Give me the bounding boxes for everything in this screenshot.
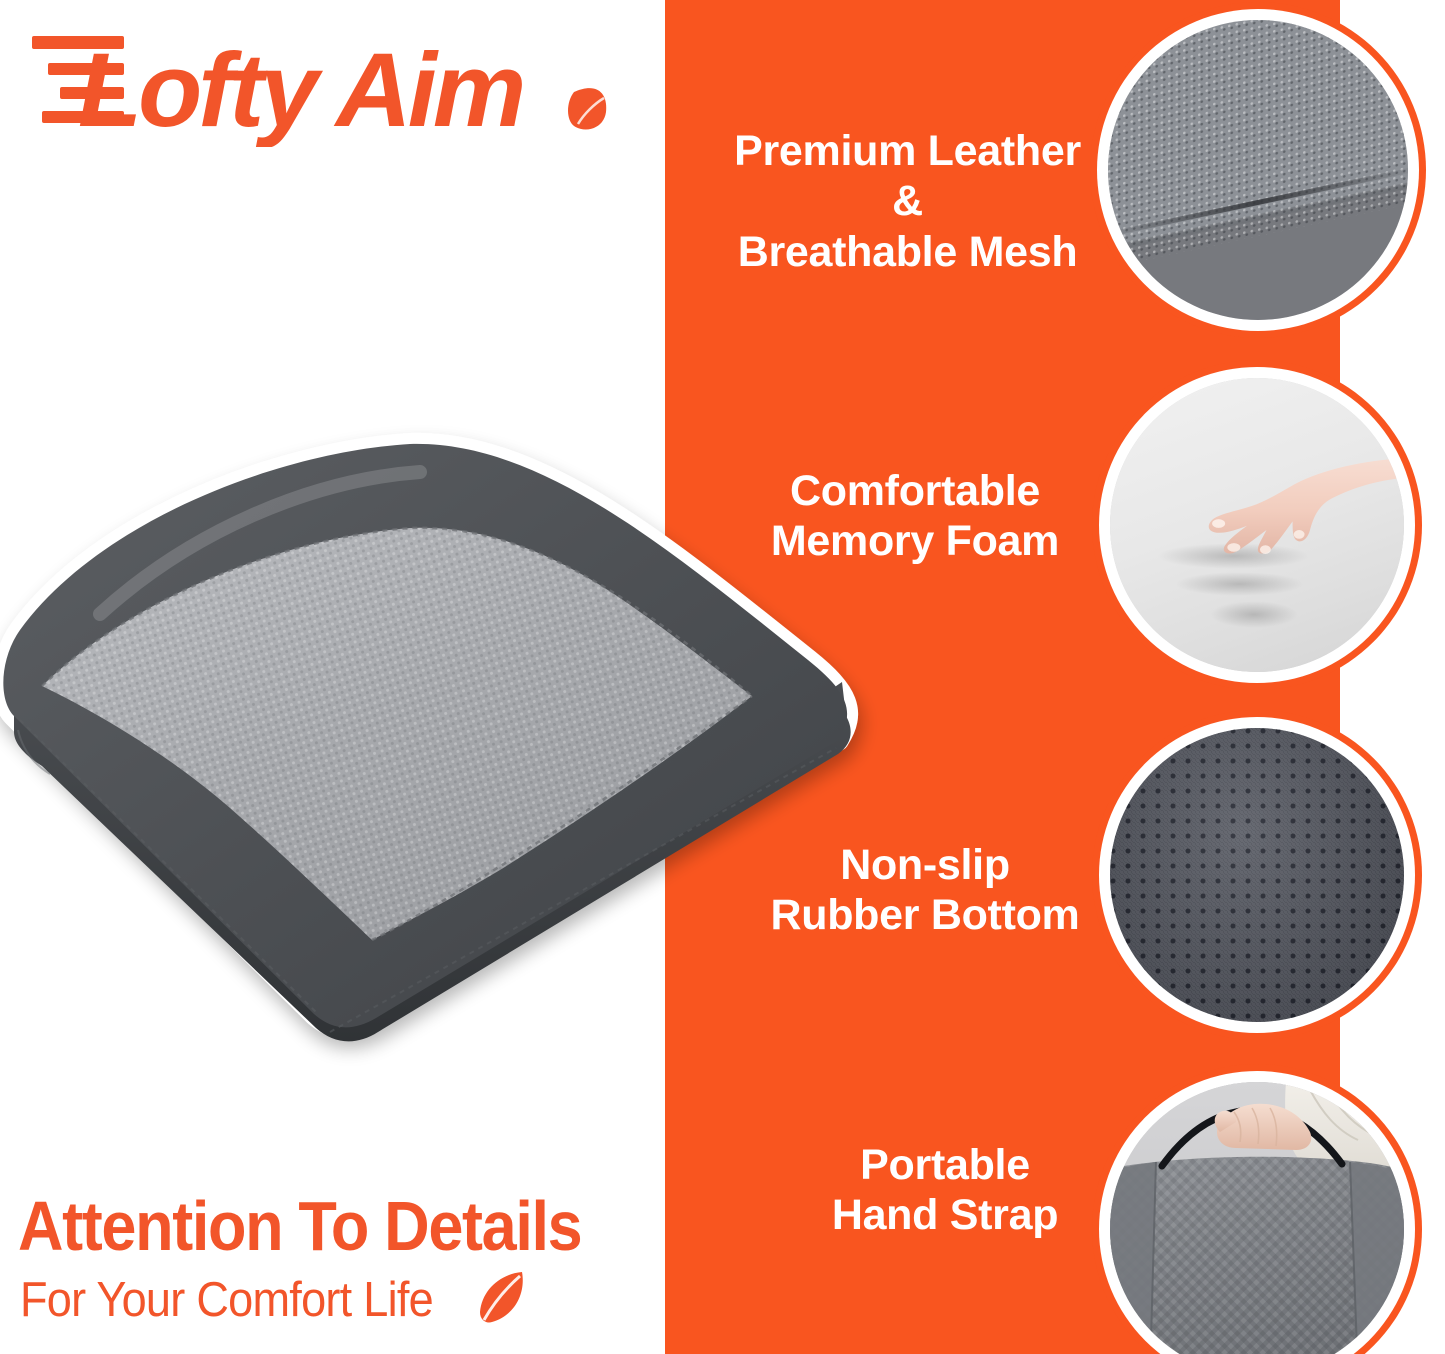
hand-illustration-icon bbox=[1186, 454, 1404, 554]
product-infographic: Lofty Aim bbox=[0, 0, 1445, 1354]
feature-label-portable-hand-strap: Portable Hand Strap bbox=[760, 1140, 1130, 1241]
feature-image-premium-leather-mesh bbox=[1108, 20, 1408, 320]
brand-logo-text: Lofty Aim bbox=[78, 32, 522, 147]
brand-logo: Lofty Aim bbox=[18, 22, 618, 147]
feature-image-non-slip-rubber-bottom bbox=[1110, 728, 1404, 1022]
feature-image-comfortable-memory-foam bbox=[1110, 378, 1404, 672]
leaf-icon bbox=[568, 88, 606, 129]
feature-label-premium-leather-mesh: Premium Leather & Breathable Mesh bbox=[680, 126, 1135, 277]
feature-image-portable-hand-strap bbox=[1110, 1082, 1404, 1354]
feature-label-non-slip-rubber-bottom: Non-slip Rubber Bottom bbox=[720, 840, 1130, 941]
feature-label-comfortable-memory-foam: Comfortable Memory Foam bbox=[700, 466, 1130, 567]
tagline-headline: Attention To Details bbox=[18, 1186, 581, 1266]
memory-foam-photo bbox=[1110, 378, 1404, 672]
hand-strap-photo bbox=[1110, 1082, 1404, 1354]
rubber-bottom-photo bbox=[1110, 728, 1404, 1022]
tagline-subline: For Your Comfort Life bbox=[20, 1272, 433, 1328]
mesh-closeup-photo bbox=[1108, 20, 1408, 320]
leaf-icon bbox=[470, 1268, 532, 1330]
